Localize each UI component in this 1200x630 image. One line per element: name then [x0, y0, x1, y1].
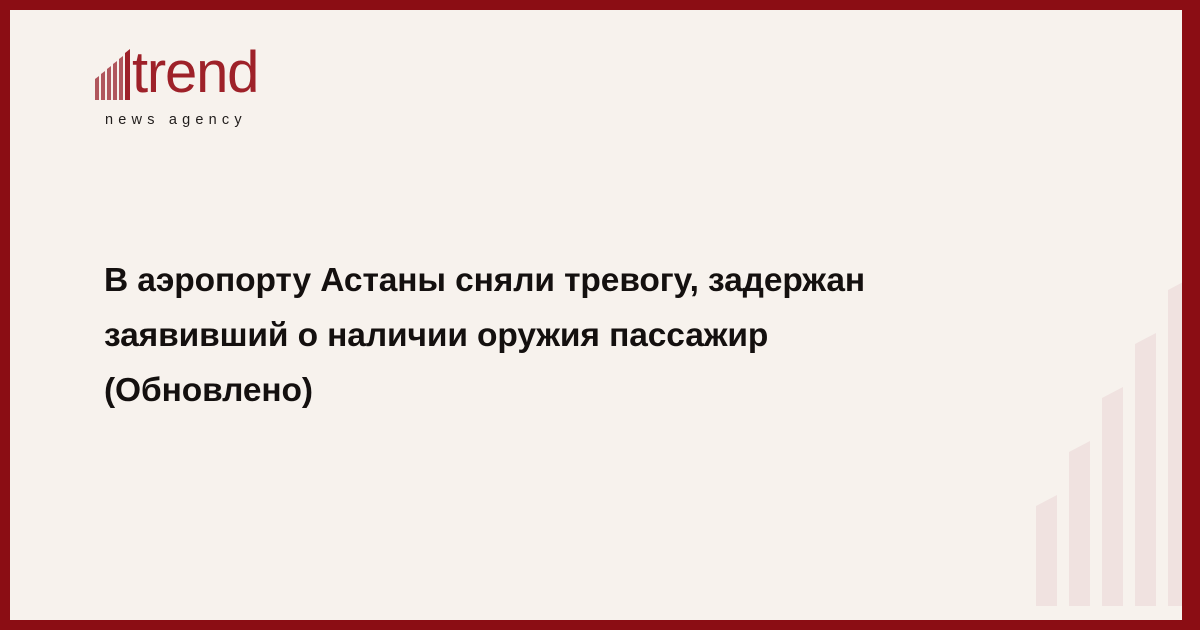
article-headline: В аэропорту Астаны сняли тревогу, задерж… [104, 253, 984, 418]
logo-mark: trend [95, 48, 395, 106]
logo-wordmark: trend [132, 46, 258, 100]
logo-tagline: news agency [105, 112, 395, 128]
card-content-area: trend news agency В аэропорту Астаны сня… [10, 10, 1182, 620]
brand-logo[interactable]: trend news agency [95, 48, 395, 128]
social-share-card: trend news agency В аэропорту Астаны сня… [0, 0, 1200, 630]
ascending-bars-watermark [1026, 170, 1182, 606]
ascending-bars-icon [95, 48, 131, 105]
